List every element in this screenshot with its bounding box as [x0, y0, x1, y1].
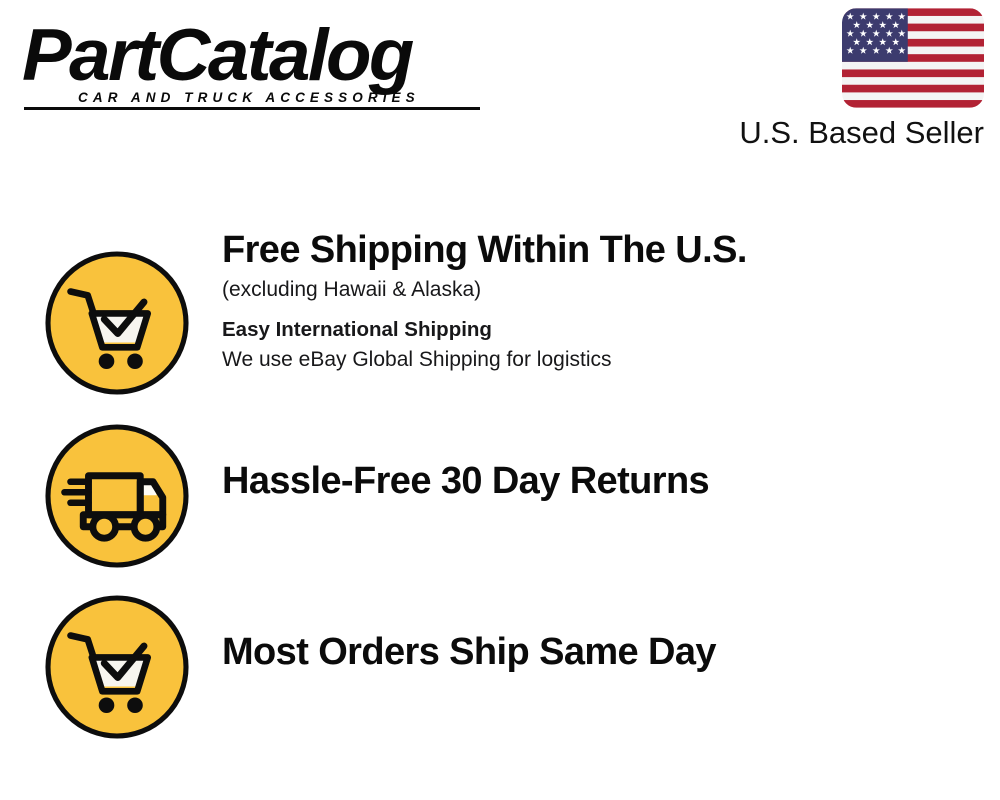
benefit-text-block: Hassle-Free 30 Day Returns: [222, 403, 962, 502]
seller-info-banner: PartCatalog CAR AND TRUCK ACCESSORIES: [0, 0, 1000, 800]
us-based-seller-block: U.S. Based Seller: [684, 8, 984, 151]
shopping-cart-check-icon: [42, 592, 192, 742]
us-based-seller-label: U.S. Based Seller: [684, 115, 984, 151]
benefit-title: Hassle-Free 30 Day Returns: [222, 403, 962, 502]
benefit-subline: (excluding Hawaii & Alaska): [222, 275, 962, 305]
benefit-title: Most Orders Ship Same Day: [222, 574, 962, 673]
brand-logo: PartCatalog CAR AND TRUCK ACCESSORIES: [22, 22, 502, 105]
brand-wordmark: PartCatalog: [22, 22, 512, 89]
benefit-text-block: Free Shipping Within The U.S. (excluding…: [222, 230, 962, 375]
brand-underline-rule: [24, 107, 480, 110]
us-flag-icon: [842, 8, 984, 108]
benefit-subline: Easy International Shipping: [222, 315, 962, 344]
shopping-cart-check-icon: [42, 248, 192, 398]
delivery-truck-icon: [42, 421, 192, 571]
benefit-title: Free Shipping Within The U.S.: [222, 230, 962, 271]
benefit-text-block: Most Orders Ship Same Day: [222, 574, 962, 673]
benefit-subline: We use eBay Global Shipping for logistic…: [222, 345, 962, 375]
